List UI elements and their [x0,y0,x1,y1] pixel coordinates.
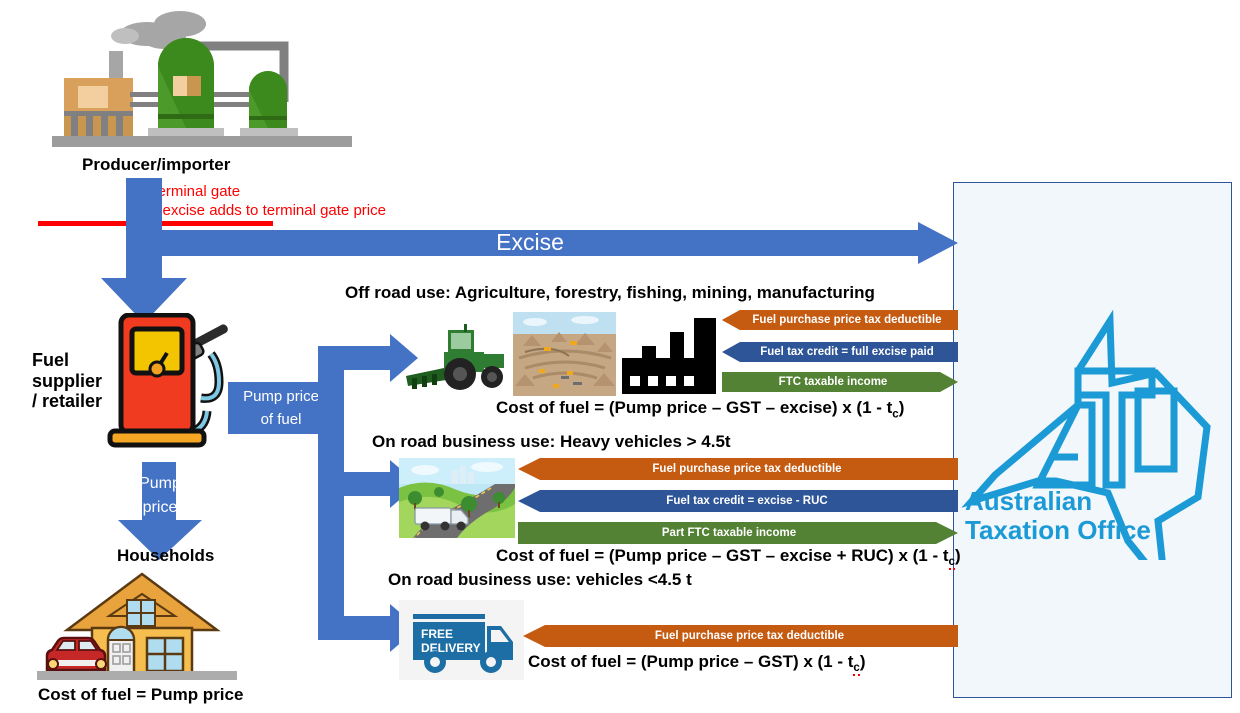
band-off-road-0: Fuel purchase price tax deductible [722,310,958,330]
free-delivery-truck-image: FREE DELIVERY [399,600,524,680]
producer-label: Producer/importer [82,155,230,175]
segment-light-formula-tail: ) [860,652,866,671]
band-heavy-0: Fuel purchase price tax deductible [518,458,958,480]
segment-light-heading: On road business use: vehicles <4.5 t [388,570,692,590]
fuel-supplier-label-line2: supplier [32,371,102,392]
segment-off-road-formula-tail: ) [899,398,905,417]
excise-arrow-label: Excise [150,229,910,256]
segment-off-road-formula: Cost of fuel = (Pump price – GST – excis… [496,398,904,422]
segment-light-formula-main: Cost of fuel = (Pump price – GST) x (1 -… [528,652,853,671]
segment-heavy-formula: Cost of fuel = (Pump price – GST – excis… [496,546,961,570]
pump-price-label: Pump price [114,472,206,520]
factory-silhouette-image [620,312,724,396]
band-light-0: Fuel purchase price tax deductible [523,625,958,647]
ato-wordmark-line2: Taxation Office [965,516,1180,545]
band-heavy-0-label: Fuel purchase price tax deductible [518,458,958,480]
band-off-road-1: Fuel tax credit = full excise paid [722,342,958,362]
ato-wordmark: Australian Taxation Office [965,487,1180,545]
segment-heavy-formula-main: Cost of fuel = (Pump price – GST – excis… [496,546,949,565]
ato-wordmark-line1: Australian [965,487,1180,516]
fuel-supplier-label: Fuel supplier / retailer [32,350,102,412]
band-off-road-2-label: FTC taxable income [722,372,958,392]
refinery-image [52,6,352,156]
highway-truck-image [399,458,515,538]
band-heavy-1-label: Fuel tax credit = excise - RUC [518,490,958,512]
segment-off-road-formula-main: Cost of fuel = (Pump price – GST – excis… [496,398,892,417]
pump-price-line1: Pump [114,472,206,496]
households-cost-formula: Cost of fuel = Pump price [38,685,243,705]
segment-heavy-formula-tail: ) [955,546,961,565]
band-off-road-2: FTC taxable income [722,372,958,392]
band-light-0-label: Fuel purchase price tax deductible [523,625,958,647]
household-image [35,572,250,684]
households-label: Households [117,546,214,566]
svg-text:FREE: FREE [421,627,453,641]
band-heavy-2: Part FTC taxable income [518,522,958,544]
band-heavy-2-label: Part FTC taxable income [518,522,958,544]
fuel-supplier-label-line1: Fuel [32,350,102,371]
fuel-supplier-label-line3: / retailer [32,391,102,412]
segment-heavy-heading: On road business use: Heavy vehicles > 4… [372,432,731,452]
tractor-image [404,320,508,392]
band-off-road-1-label: Fuel tax credit = full excise paid [722,342,958,362]
band-off-road-0-label: Fuel purchase price tax deductible [722,310,958,330]
segment-off-road-heading: Off road use: Agriculture, forestry, fis… [345,283,875,303]
open-pit-mine-image [513,312,616,396]
segment-light-formula: Cost of fuel = (Pump price – GST) x (1 -… [528,652,866,676]
pump-price-line2: price [114,496,206,520]
fuel-pump-image [105,313,230,463]
band-heavy-1: Fuel tax credit = excise - RUC [518,490,958,512]
